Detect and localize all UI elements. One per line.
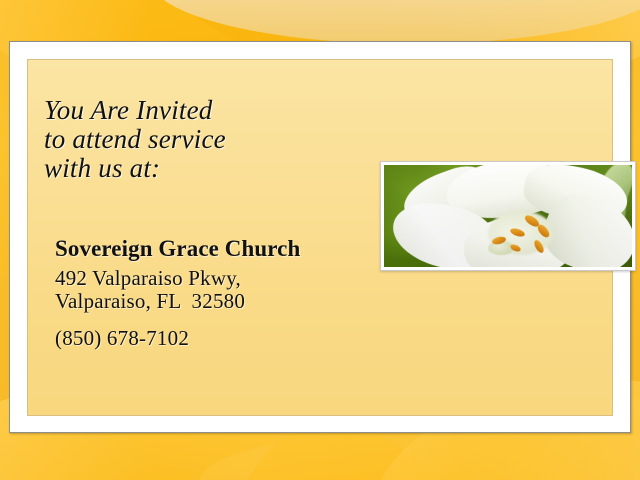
invitation-slide: You Are Invited to attend service with u… bbox=[0, 0, 640, 480]
headline-line-2: to attend service bbox=[44, 125, 364, 154]
lily-photo bbox=[384, 165, 632, 267]
headline-line-3: with us at: bbox=[44, 154, 364, 183]
headline-line-1: You Are Invited bbox=[44, 96, 364, 125]
photo-shading-overlay bbox=[384, 165, 632, 267]
photo-frame bbox=[380, 161, 636, 271]
address-city-state-zip: Valparaiso, FL 32580 bbox=[55, 290, 455, 313]
headline-text: You Are Invited to attend service with u… bbox=[44, 96, 364, 183]
card-content-panel: You Are Invited to attend service with u… bbox=[27, 59, 613, 416]
phone-number: (850) 678-7102 bbox=[55, 327, 455, 350]
